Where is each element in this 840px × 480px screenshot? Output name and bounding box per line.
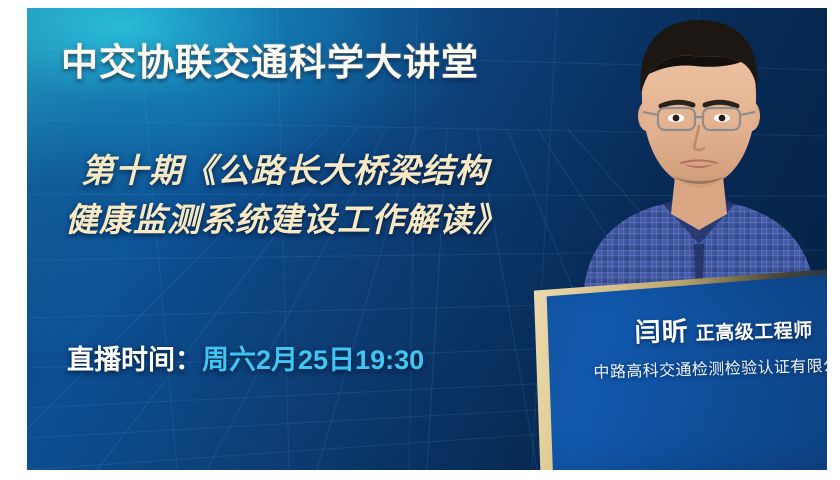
promo-poster: 中交协联交通科学大讲堂 第十期《公路长大桥梁结构 健康监测系统建设工作解读》 直… <box>0 0 840 480</box>
session-subtitle-line-1: 第十期《公路长大桥梁结构 <box>65 146 585 195</box>
page-title: 中交协联交通科学大讲堂 <box>61 32 479 86</box>
speaker-info-plate: 闫昕正高级工程师 中路高科交通检测检验认证有限公司 <box>493 266 827 470</box>
speaker-name: 闫昕 <box>634 316 689 347</box>
speaker-name-row: 闫昕正高级工程师 <box>580 306 827 351</box>
broadcast-time-value: 周六2月25日19:30 <box>202 345 424 375</box>
broadcast-time: 直播时间：周六2月25日19:30 <box>67 338 424 377</box>
session-subtitle-line-2: 健康监测系统建设工作解读》 <box>65 195 585 244</box>
speaker-title: 正高级工程师 <box>695 321 813 345</box>
session-subtitle: 第十期《公路长大桥梁结构 健康监测系统建设工作解读》 <box>65 146 585 244</box>
broadcast-time-label: 直播时间： <box>67 345 202 375</box>
plate-text-block: 闫昕正高级工程师 中路高科交通检测检验认证有限公司 <box>580 306 827 383</box>
poster-artboard: 中交协联交通科学大讲堂 第十期《公路长大桥梁结构 健康监测系统建设工作解读》 直… <box>27 8 827 470</box>
